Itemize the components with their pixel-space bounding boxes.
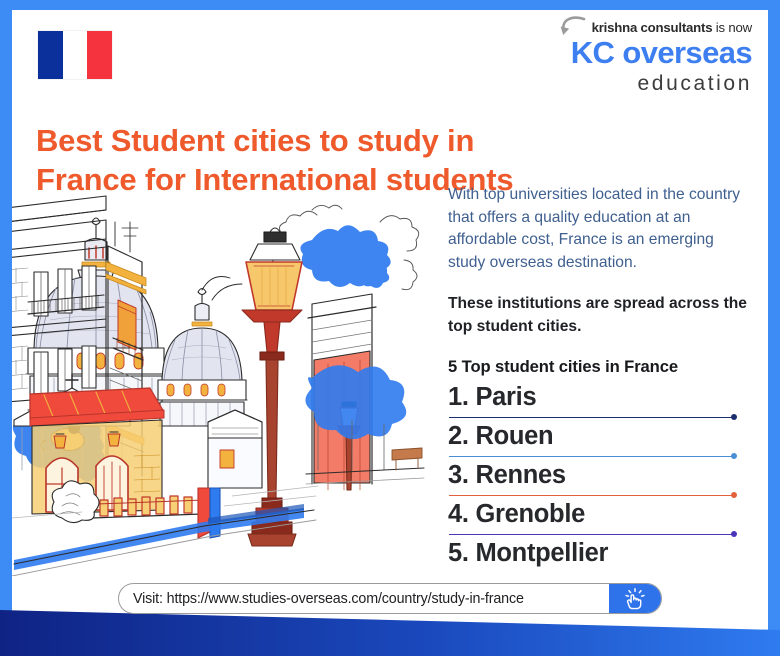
flag-stripe-blue [38, 31, 63, 79]
content-column: With top universities located in the cou… [448, 184, 754, 573]
mid-roof [208, 410, 262, 488]
list-item: 1. Paris [448, 379, 754, 417]
flag-stripe-red [87, 31, 112, 79]
infographic-poster: krishna consultants is now KC overseas e… [0, 0, 780, 656]
logo-tagline-bold: krishna consultants [592, 20, 713, 35]
kc-overseas-logo[interactable]: krishna consultants is now KC overseas e… [512, 18, 752, 96]
divider-line [449, 495, 734, 496]
paris-illustration [12, 188, 432, 576]
url-text: Visit: https://www.studies-overseas.com/… [119, 591, 609, 607]
secondary-dome [157, 289, 247, 427]
france-flag-icon [38, 31, 112, 79]
list-divider [449, 456, 734, 457]
logo-brand-sub: education [512, 72, 752, 96]
poster-canvas: krishna consultants is now KC overseas e… [12, 10, 768, 646]
logo-tagline-light: is now [712, 20, 752, 35]
divider-line [449, 417, 734, 418]
divider-line [449, 456, 734, 457]
paris-sketch-svg [12, 188, 432, 576]
visit-url-bar[interactable]: Visit: https://www.studies-overseas.com/… [118, 583, 662, 614]
cafe [30, 388, 164, 514]
secondary-paragraph: These institutions are spread across the… [448, 293, 754, 337]
visit-link-button[interactable] [609, 584, 661, 613]
list-item: 4. Grenoble [448, 496, 754, 534]
list-item: 2. Rouen [448, 418, 754, 456]
sky-splash [300, 225, 390, 288]
flag-stripe-white [63, 31, 88, 79]
list-divider [449, 495, 734, 496]
logo-tagline: krishna consultants is now [592, 20, 752, 35]
list-divider [449, 417, 734, 418]
page-title-line1: Best Student cities to study in [36, 123, 474, 158]
list-item: 3. Rennes [448, 457, 754, 495]
list-divider [449, 534, 734, 535]
click-hand-icon [624, 588, 646, 610]
list-item: 5. Montpellier [448, 535, 754, 573]
divider-line [449, 534, 734, 535]
footer-band-shape [0, 610, 780, 656]
intro-paragraph: With top universities located in the cou… [448, 184, 754, 274]
top-cities-list: 1. Paris 2. Rouen 3. Rennes 4. Grenoble [448, 379, 754, 573]
logo-tagline-row: krishna consultants is now [512, 18, 752, 36]
list-heading: 5 Top student cities in France [448, 357, 754, 377]
logo-brand: KC overseas [512, 37, 752, 70]
